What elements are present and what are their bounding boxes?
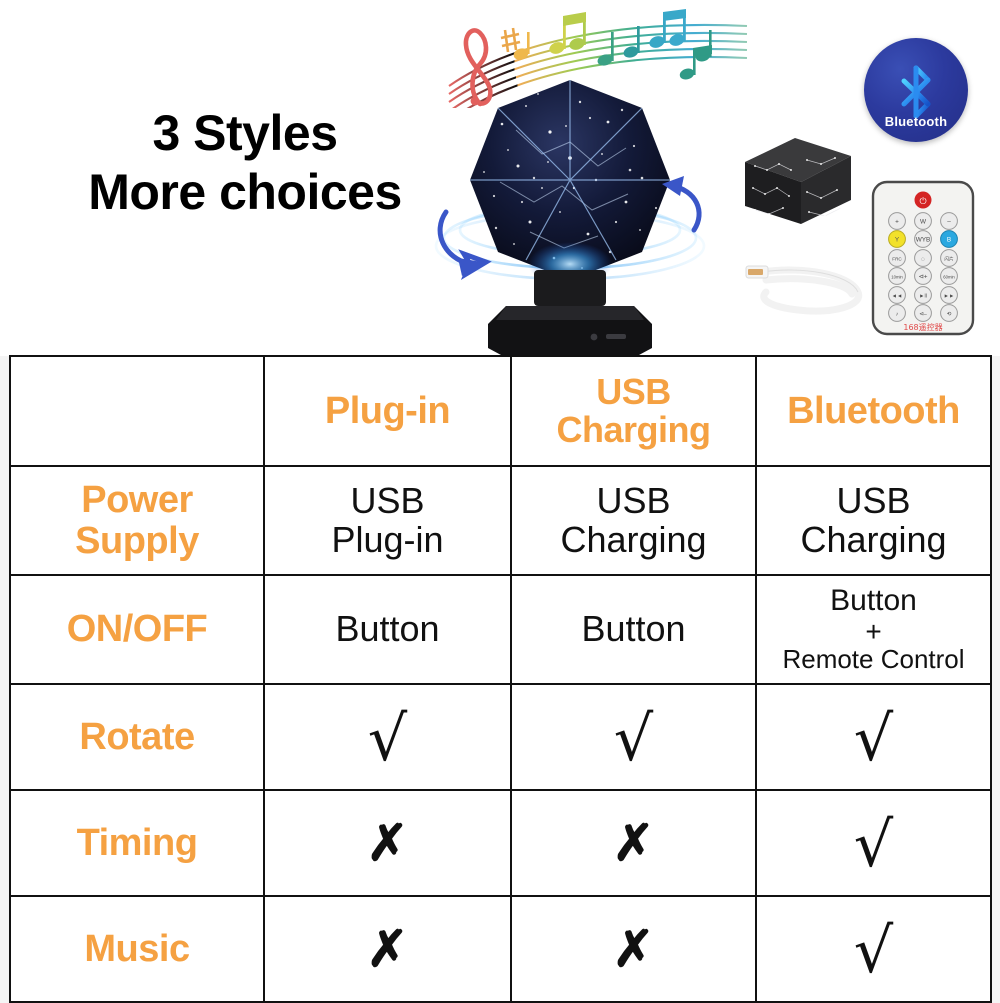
svg-text:⊲+: ⊲+ bbox=[918, 274, 927, 281]
svg-text:♪: ♪ bbox=[896, 311, 899, 317]
cell-line1: USB bbox=[514, 482, 753, 520]
cell-music-plugin: ✗ bbox=[264, 896, 511, 1002]
table-row-power-supply: Power Supply USB Plug-in USB Charging US… bbox=[10, 466, 991, 575]
star-projector-lamp-image bbox=[430, 62, 710, 356]
header-plugin-label: Plug-in bbox=[325, 390, 450, 432]
cell-rotate-usb: √ bbox=[511, 684, 756, 790]
cell-line1: Button bbox=[581, 608, 685, 649]
cross-mark-icon: ✗ bbox=[367, 924, 409, 974]
table-row-onoff: ON/OFF Button Button Button + Remote Con… bbox=[10, 575, 991, 684]
svg-text:–: – bbox=[947, 219, 951, 226]
header-cell-usb: USB Charging bbox=[511, 356, 756, 466]
header-cell-feature bbox=[10, 356, 264, 466]
svg-text:⟲: ⟲ bbox=[947, 311, 952, 317]
product-box-image bbox=[737, 126, 857, 231]
row-label-onoff: ON/OFF bbox=[10, 575, 264, 684]
row-label-line1: Timing bbox=[77, 822, 198, 864]
cell-line1: USB bbox=[759, 482, 988, 520]
headline-line-1: 3 Styles bbox=[45, 104, 445, 163]
bluetooth-rune-icon bbox=[894, 64, 938, 120]
row-label-timing: Timing bbox=[10, 790, 264, 896]
cell-timing-usb: ✗ bbox=[511, 790, 756, 896]
bluetooth-badge-icon: Bluetooth bbox=[864, 38, 968, 142]
remote-model-label: 168遥控器 bbox=[903, 322, 942, 332]
check-mark-icon: √ bbox=[368, 708, 408, 770]
svg-text:⊲–: ⊲– bbox=[919, 311, 927, 317]
cell-onoff-plugin: Button bbox=[264, 575, 511, 684]
table-row-timing: Timing ✗ ✗ √ bbox=[10, 790, 991, 896]
cross-mark-icon: ✗ bbox=[367, 818, 409, 868]
svg-text:⏻: ⏻ bbox=[919, 196, 926, 207]
cell-onoff-bluetooth: Button + Remote Control bbox=[756, 575, 991, 684]
headline-line-2: More choices bbox=[45, 163, 445, 222]
header-usb-label-line1: USB bbox=[514, 373, 753, 411]
cell-music-usb: ✗ bbox=[511, 896, 756, 1002]
svg-text:10min: 10min bbox=[891, 274, 903, 279]
cell-line1: USB bbox=[267, 482, 508, 520]
header-cell-plugin: Plug-in bbox=[264, 356, 511, 466]
cell-line2: Charging bbox=[514, 521, 753, 559]
svg-text:◄◄: ◄◄ bbox=[892, 293, 903, 299]
svg-text:+: + bbox=[895, 219, 899, 226]
cell-power-bluetooth: USB Charging bbox=[756, 466, 991, 575]
table-row-rotate: Rotate √ √ √ bbox=[10, 684, 991, 790]
cross-mark-icon: ✗ bbox=[613, 924, 655, 974]
header-cell-bluetooth: Bluetooth bbox=[756, 356, 991, 466]
cell-music-bluetooth: √ bbox=[756, 896, 991, 1002]
usb-cable-image bbox=[742, 248, 872, 320]
bluetooth-badge-label: Bluetooth bbox=[864, 114, 968, 129]
row-label-line1: Power bbox=[13, 480, 261, 520]
cell-rotate-bluetooth: √ bbox=[756, 684, 991, 790]
check-mark-icon: √ bbox=[854, 708, 894, 770]
cell-line2: Charging bbox=[759, 521, 988, 559]
check-mark-icon: √ bbox=[854, 920, 894, 982]
svg-text:W: W bbox=[920, 219, 927, 226]
cross-mark-icon: ✗ bbox=[613, 818, 655, 868]
row-label-line2: Supply bbox=[13, 521, 261, 561]
cell-rotate-plugin: √ bbox=[264, 684, 511, 790]
row-label-power-supply: Power Supply bbox=[10, 466, 264, 575]
cell-timing-bluetooth: √ bbox=[756, 790, 991, 896]
remote-control-image: ⏻ +W– YWYBB FRC◌闪片 10min⊲+60min ◄◄►ll►► … bbox=[869, 178, 977, 338]
header-usb-label-line2: Charging bbox=[514, 411, 753, 449]
header-bluetooth-label: Bluetooth bbox=[787, 390, 960, 432]
hero-banner: 3 Styles More choices bbox=[0, 0, 1000, 356]
svg-text:►ll: ►ll bbox=[919, 293, 927, 299]
svg-text:►►: ►► bbox=[944, 293, 955, 299]
row-label-music: Music bbox=[10, 896, 264, 1002]
cell-line1: Button bbox=[759, 585, 988, 617]
cell-line2: Plug-in bbox=[267, 521, 508, 559]
row-label-line1: Music bbox=[84, 928, 189, 970]
svg-text:B: B bbox=[947, 237, 951, 244]
svg-text:60min: 60min bbox=[943, 274, 955, 279]
row-label-rotate: Rotate bbox=[10, 684, 264, 790]
cell-power-plugin: USB Plug-in bbox=[264, 466, 511, 575]
cell-line3: Remote Control bbox=[759, 646, 988, 674]
cell-line2: + bbox=[759, 617, 988, 647]
cell-timing-plugin: ✗ bbox=[264, 790, 511, 896]
cell-line1: Button bbox=[335, 608, 439, 649]
cell-onoff-usb: Button bbox=[511, 575, 756, 684]
svg-text:闪片: 闪片 bbox=[944, 255, 954, 262]
comparison-table: Plug-in USB Charging Bluetooth Power Sup… bbox=[9, 355, 992, 1003]
cell-power-usb: USB Charging bbox=[511, 466, 756, 575]
page-headline: 3 Styles More choices bbox=[45, 104, 445, 222]
table-header-row: Plug-in USB Charging Bluetooth bbox=[10, 356, 991, 466]
table-row-music: Music ✗ ✗ √ bbox=[10, 896, 991, 1002]
check-mark-icon: √ bbox=[614, 708, 654, 770]
row-label-line1: ON/OFF bbox=[67, 608, 208, 650]
svg-text:WYB: WYB bbox=[916, 237, 931, 244]
check-mark-icon: √ bbox=[854, 814, 894, 876]
row-label-line1: Rotate bbox=[79, 716, 194, 758]
svg-text:FRC: FRC bbox=[892, 256, 902, 261]
svg-text:◌: ◌ bbox=[921, 256, 925, 263]
svg-text:Y: Y bbox=[895, 237, 900, 244]
